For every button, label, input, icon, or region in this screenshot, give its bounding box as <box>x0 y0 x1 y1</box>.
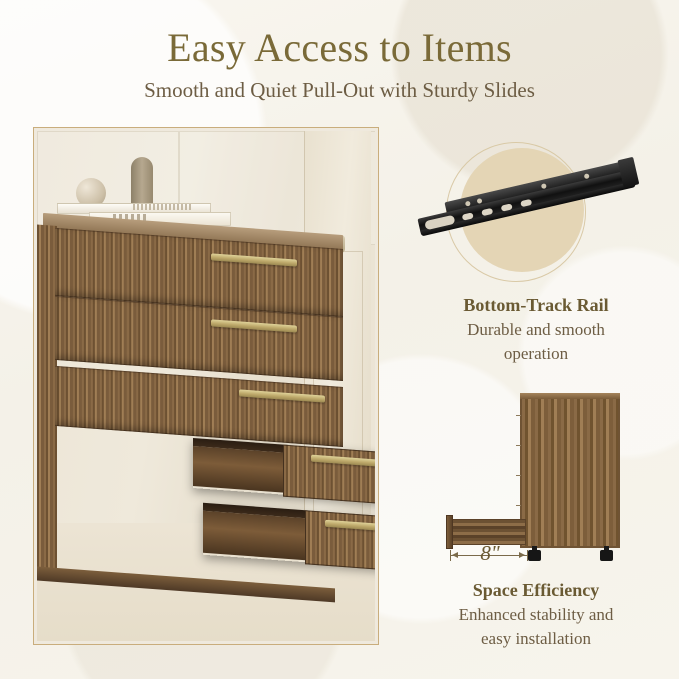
bottom-track-rail-illustration <box>400 140 672 290</box>
feature-desc-rail-line1: Durable and smooth <box>400 318 672 341</box>
feature-bottom-track-rail: Bottom-Track Rail Durable and smooth ope… <box>400 293 672 365</box>
drawer-level-notch <box>516 415 521 416</box>
side-view-caster-front <box>528 546 541 561</box>
feature-title-space: Space Efficiency <box>400 578 672 602</box>
dimension-arrow-right-icon <box>519 552 525 558</box>
dimension-label: 8" <box>470 541 510 566</box>
header: Easy Access to Items Smooth and Quiet Pu… <box>0 24 679 104</box>
feature-space-efficiency: Space Efficiency Enhanced stability and … <box>400 578 672 650</box>
product-photo-frame <box>33 127 379 645</box>
open-drawer-upper-face <box>283 445 375 505</box>
cabinet-side-panel <box>520 393 620 548</box>
feature-title-rail: Bottom-Track Rail <box>400 293 672 317</box>
side-view-caster-body <box>600 550 613 561</box>
drawer-level-notch <box>516 445 521 446</box>
page-title: Easy Access to Items <box>0 24 679 72</box>
side-view-caster-body <box>528 550 541 561</box>
feature-desc-rail-line2: operation <box>400 342 672 365</box>
open-drawer-lower <box>203 503 375 571</box>
drawer-level-notch <box>516 475 521 476</box>
dimension-endpoint-left <box>450 550 451 561</box>
dresser-side-panel <box>37 224 57 578</box>
drawer-front-3 <box>55 366 343 447</box>
cabinet-side-view-diagram: 8" <box>430 393 645 568</box>
cabinet-top-edge <box>520 393 620 399</box>
feature-desc-space-line1: Enhanced stability and <box>400 603 672 626</box>
dresser-body <box>43 215 343 597</box>
feature-desc-space-line2: easy installation <box>400 627 672 650</box>
dimension-arrow-left-icon <box>452 552 458 558</box>
book-spine-text <box>133 204 193 210</box>
extended-drawer-face <box>446 515 453 549</box>
side-view-caster-rear <box>600 546 613 561</box>
open-drawer-lower-side <box>203 511 309 561</box>
product-photo <box>37 131 375 641</box>
open-drawer-lower-face <box>305 510 375 572</box>
page-subtitle: Smooth and Quiet Pull-Out with Sturdy Sl… <box>0 76 679 104</box>
drawer-level-notch <box>516 505 521 506</box>
open-drawer-upper-side <box>193 446 289 493</box>
